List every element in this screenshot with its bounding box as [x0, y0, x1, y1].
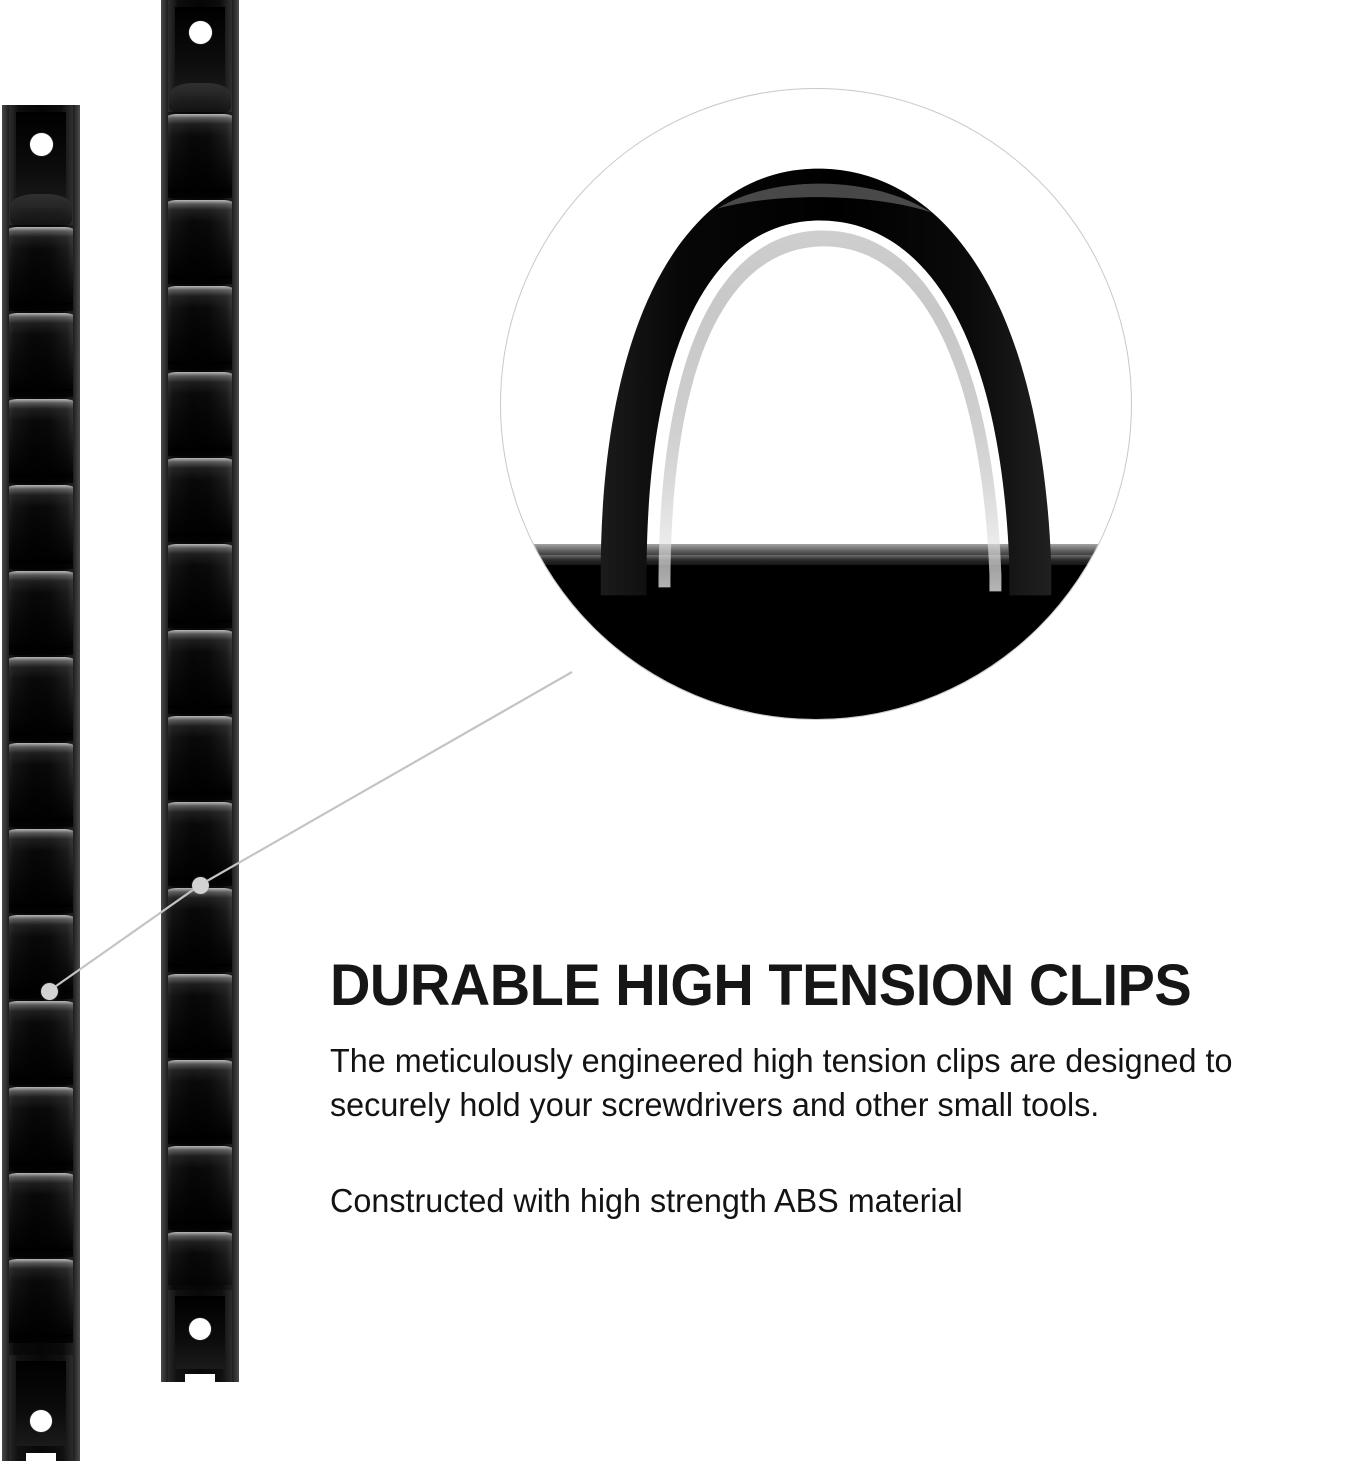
right-rail — [161, 0, 239, 1382]
clip-barrel — [3, 829, 79, 907]
clip-segment — [161, 454, 239, 540]
right-rail-top-endcap — [161, 0, 239, 112]
right-rail-left-edge — [161, 0, 168, 1382]
clip-barrel — [162, 1060, 238, 1138]
clip-segment — [161, 110, 239, 196]
clip-barrel — [162, 286, 238, 364]
left-rail-clip-stack — [2, 223, 80, 1343]
clip-segment — [2, 911, 80, 997]
clip-barrel — [3, 1173, 79, 1251]
clip-barrel — [162, 974, 238, 1052]
clip-segment — [2, 481, 80, 567]
clip-segment — [2, 739, 80, 825]
clip-barrel — [162, 802, 238, 880]
clip-segment — [161, 1056, 239, 1142]
left-rail-top-endcap — [2, 105, 80, 225]
body-paragraph: The meticulously engineered high tension… — [330, 1039, 1330, 1127]
page-title: DURABLE HIGH TENSION CLIPS — [330, 955, 1305, 1017]
clip-barrel — [162, 888, 238, 966]
callout-dot-right-rail — [192, 877, 209, 894]
clip-barrel — [3, 399, 79, 477]
clip-segment — [161, 626, 239, 712]
clip-segment — [2, 567, 80, 653]
clip-barrel — [3, 743, 79, 821]
magnified-clip-arch — [501, 89, 1131, 719]
clip-segment — [2, 825, 80, 911]
left-rail — [2, 105, 80, 1461]
clip-barrel — [3, 571, 79, 649]
right-rail-right-edge — [232, 0, 239, 1382]
clip-segment — [161, 196, 239, 282]
material-paragraph: Constructed with high strength ABS mater… — [330, 1179, 1320, 1223]
right-rail-clip-stack — [161, 110, 239, 1285]
clip-segment — [2, 653, 80, 739]
clip-segment — [161, 884, 239, 970]
left-rail-bottom-well — [16, 1361, 66, 1446]
clip-barrel — [3, 485, 79, 563]
clip-segment — [2, 395, 80, 481]
right-rail-bottom-endcap — [161, 1290, 239, 1382]
left-rail-top-mounting-hole — [30, 133, 53, 156]
clip-segment — [161, 282, 239, 368]
clip-barrel — [162, 1232, 238, 1285]
clip-segment — [161, 1142, 239, 1228]
clip-segment — [2, 309, 80, 395]
left-rail-bottom-notch — [26, 1453, 56, 1461]
clip-segment — [161, 540, 239, 626]
left-rail-left-edge — [2, 105, 9, 1461]
clip-segment — [161, 1228, 239, 1285]
clip-barrel — [162, 630, 238, 708]
clip-segment — [2, 1169, 80, 1255]
clip-barrel — [3, 657, 79, 735]
clip-segment — [161, 712, 239, 798]
product-marketing-image: DURABLE HIGH TENSION CLIPS The meticulou… — [0, 0, 1356, 1461]
clip-segment — [2, 997, 80, 1083]
clip-barrel — [162, 544, 238, 622]
right-rail-bottom-mounting-hole — [189, 1318, 211, 1340]
left-rail-bottom-endcap — [2, 1355, 80, 1461]
clip-segment — [2, 223, 80, 309]
clip-barrel — [162, 200, 238, 278]
clip-barrel — [3, 227, 79, 305]
clip-barrel — [3, 1087, 79, 1165]
right-rail-top-mounting-hole — [189, 21, 212, 44]
clip-barrel — [3, 915, 79, 993]
clip-segment — [161, 970, 239, 1056]
clip-barrel — [162, 716, 238, 794]
left-rail-bottom-mounting-hole — [30, 1410, 52, 1432]
callout-dot-left-rail — [41, 983, 58, 1000]
clip-gap — [2, 1335, 80, 1343]
clip-barrel — [162, 458, 238, 536]
clip-barrel — [3, 313, 79, 391]
clip-barrel — [3, 1001, 79, 1079]
left-rail-top-flare — [10, 194, 72, 225]
clip-barrel — [162, 114, 238, 192]
left-rail-right-edge — [73, 105, 80, 1461]
magnified-clip-detail — [500, 88, 1132, 720]
clip-barrel — [162, 372, 238, 450]
right-rail-bottom-notch — [185, 1374, 215, 1382]
right-rail-top-flare — [169, 83, 231, 112]
clip-barrel — [162, 1146, 238, 1224]
clip-barrel — [3, 1259, 79, 1337]
clip-segment — [161, 798, 239, 884]
clip-segment — [2, 1083, 80, 1169]
marketing-copy: DURABLE HIGH TENSION CLIPS The meticulou… — [330, 955, 1340, 1223]
clip-segment — [2, 1255, 80, 1341]
clip-segment — [161, 368, 239, 454]
